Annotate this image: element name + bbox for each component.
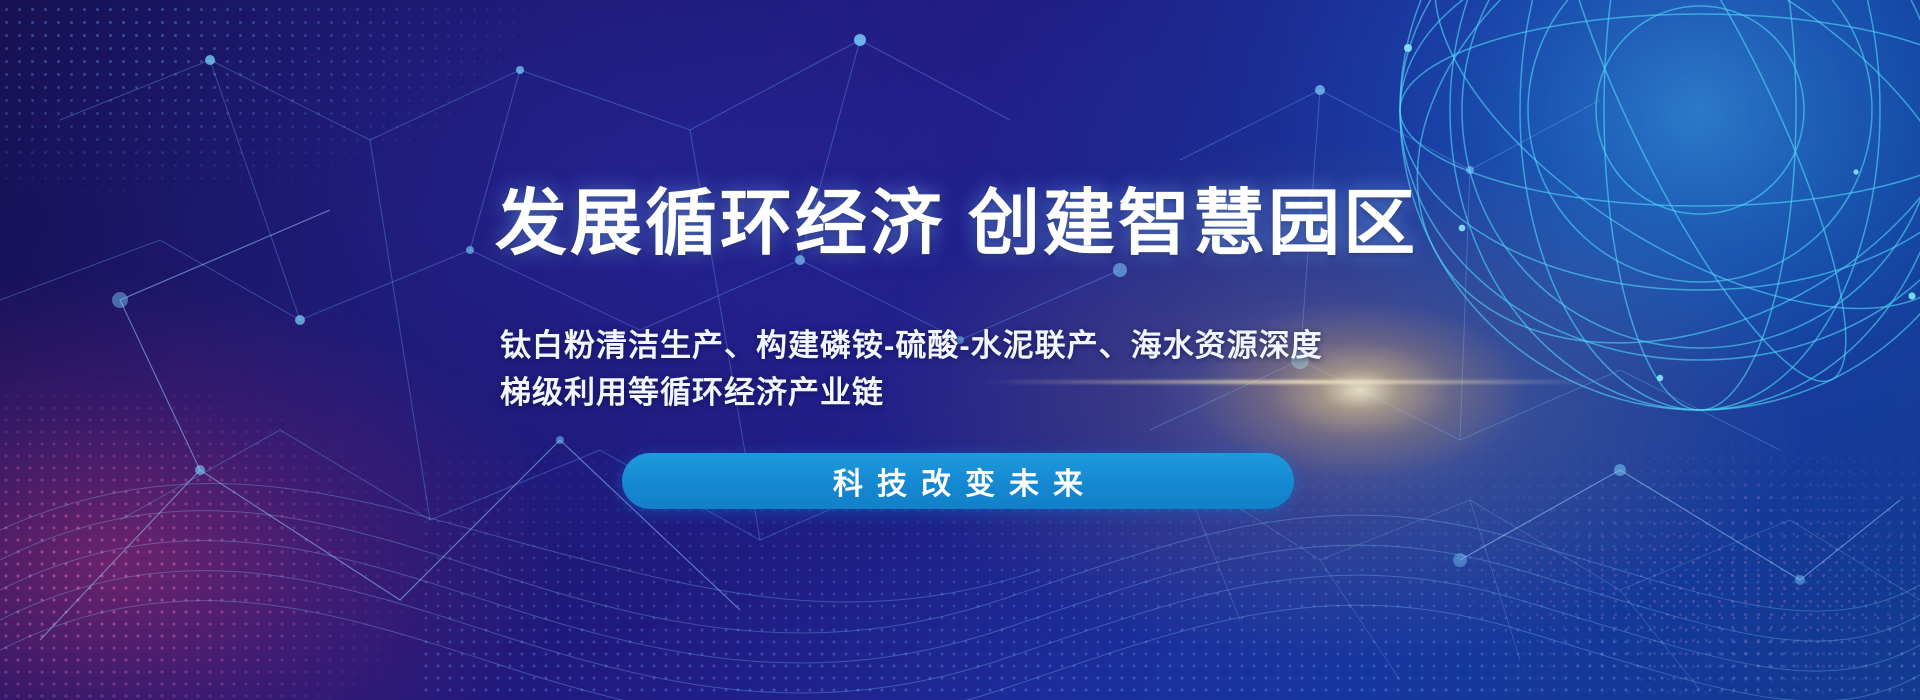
banner-headline: 发展循环经济 创建智慧园区 [495,188,1418,260]
subtitle-line-2: 梯级利用等循环经济产业链 [500,369,1460,416]
subtitle-line-1: 钛白粉清洁生产、构建磷铵-硫酸-水泥联产、海水资源深度 [500,322,1460,369]
hero-banner: 发展循环经济 创建智慧园区 钛白粉清洁生产、构建磷铵-硫酸-水泥联产、海水资源深… [0,0,1920,700]
cta-button[interactable]: 科技改变未来 [622,453,1294,509]
banner-content: 发展循环经济 创建智慧园区 钛白粉清洁生产、构建磷铵-硫酸-水泥联产、海水资源深… [0,0,1920,700]
banner-subtitle: 钛白粉清洁生产、构建磷铵-硫酸-水泥联产、海水资源深度 梯级利用等循环经济产业链 [500,322,1460,416]
